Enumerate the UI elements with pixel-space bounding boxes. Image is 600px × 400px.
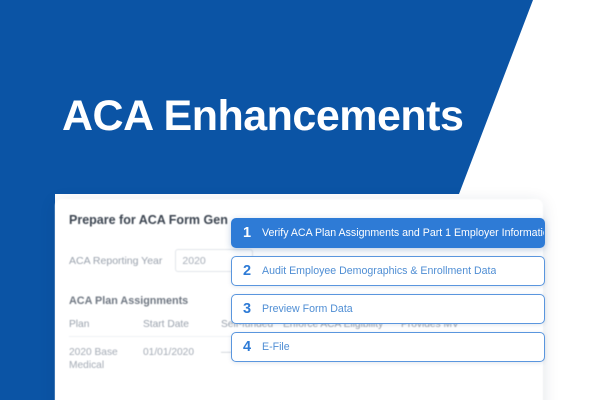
column-header-start-date: Start Date [143,319,221,330]
aca-reporting-year-label: ACA Reporting Year [69,255,162,267]
step-item-1[interactable]: 1 Verify ACA Plan Assignments and Part 1… [231,218,545,248]
hero-title: ACA Enhancements [62,90,463,142]
aca-reporting-year-value: 2020 [182,255,205,267]
step-label-1: Verify ACA Plan Assignments and Part 1 E… [262,227,544,239]
step-label-2: Audit Employee Demographics & Enrollment… [262,265,496,277]
step-number-4: 4 [232,339,262,355]
cell-start-date: 01/01/2020 [143,346,221,372]
step-number-2: 2 [232,263,262,279]
step-item-4[interactable]: 4 E-File [231,332,545,362]
aca-reporting-year-row: ACA Reporting Year 2020 [69,249,253,272]
step-number-3: 3 [232,301,262,317]
card-title: Prepare for ACA Form Gen [69,213,228,227]
step-item-3[interactable]: 3 Preview Form Data [231,294,545,324]
step-number-1: 1 [232,225,262,241]
step-label-3: Preview Form Data [262,303,353,315]
aca-wizard-step-list: 1 Verify ACA Plan Assignments and Part 1… [231,218,545,362]
screenshot-stage: ACA Enhancements Prepare for ACA Form Ge… [0,0,600,400]
aca-plan-assignments-heading: ACA Plan Assignments [69,295,188,307]
step-item-2[interactable]: 2 Audit Employee Demographics & Enrollme… [231,256,545,286]
column-header-plan: Plan [69,319,143,330]
step-label-4: E-File [262,341,290,353]
cell-plan: 2020 Base Medical [69,346,143,372]
